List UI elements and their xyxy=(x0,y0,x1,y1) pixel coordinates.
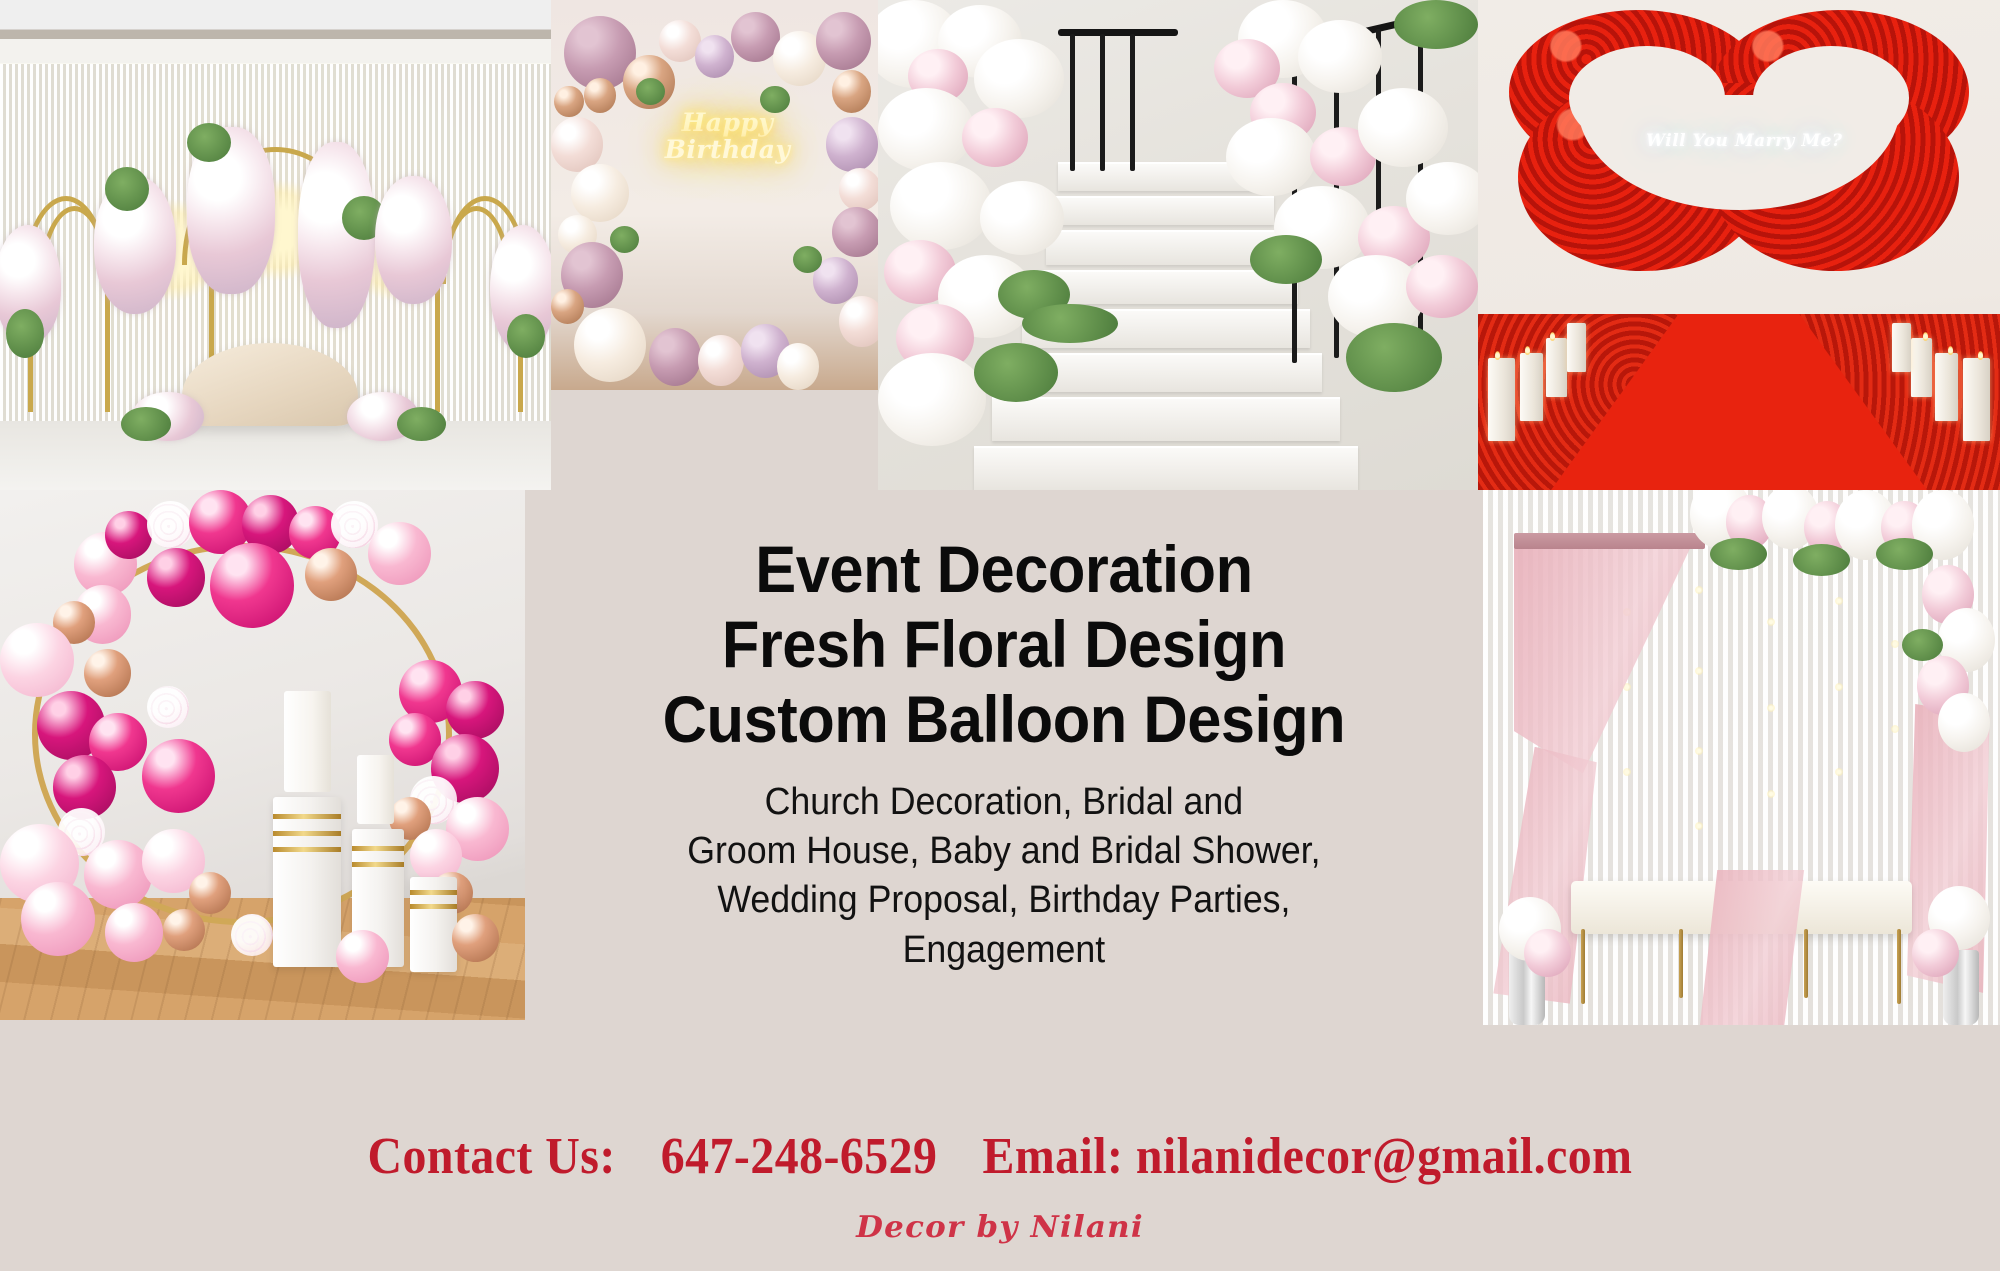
balloon xyxy=(649,328,701,387)
white-rose-cluster xyxy=(890,162,992,250)
services-line-4: Engagement xyxy=(687,926,1320,975)
headline-line-2: Fresh Floral Design xyxy=(663,607,1346,682)
flyer-canvas: Happy Birthday xyxy=(0,0,2000,1271)
railing-baluster xyxy=(1130,34,1135,171)
balloon xyxy=(210,543,294,628)
balloon xyxy=(142,739,216,813)
photo-birthday-balloon-arch: Happy Birthday xyxy=(551,0,878,390)
drape-valance-rod xyxy=(1514,533,1705,549)
photo-pink-balloon-cake-setup xyxy=(0,490,525,1020)
email-label: Email: xyxy=(982,1128,1123,1185)
bench-leg xyxy=(1897,929,1901,1004)
balloon xyxy=(839,168,878,211)
balloon xyxy=(571,164,630,223)
tiered-cake-small xyxy=(357,755,394,824)
balloon xyxy=(147,548,205,606)
candle-flame xyxy=(1923,332,1928,341)
fairy-light xyxy=(1695,822,1703,830)
white-rose-cluster xyxy=(1226,118,1316,196)
balloon xyxy=(336,930,389,983)
greenery xyxy=(610,226,639,253)
balloon xyxy=(189,872,231,914)
greenery xyxy=(1346,323,1442,392)
gold-stand-midr xyxy=(435,274,440,411)
white-rose-cluster xyxy=(878,353,986,446)
pink-rose-cluster xyxy=(1912,929,1959,977)
pillar-candle xyxy=(1892,323,1911,372)
bench-leg xyxy=(1581,929,1585,1004)
bench-leg xyxy=(1804,929,1808,999)
center-text-panel: Event Decoration Fresh Floral Design Cus… xyxy=(525,490,1483,1025)
balloon xyxy=(368,522,431,586)
bench-leg xyxy=(1679,929,1683,999)
balloon xyxy=(305,548,358,601)
tiered-cake-large xyxy=(284,691,331,792)
drape-scene xyxy=(1483,490,2000,1025)
headline-line-3: Custom Balloon Design xyxy=(663,682,1346,757)
gold-band xyxy=(410,890,457,895)
greenery xyxy=(1250,235,1322,284)
stair-step xyxy=(1052,196,1274,225)
services-line-2: Groom House, Baby and Bridal Shower, xyxy=(687,827,1320,876)
pink-rose-cluster xyxy=(962,108,1028,167)
pillar-candle xyxy=(1963,358,1989,441)
neon-line-1: Happy Birthday xyxy=(665,108,791,164)
greenery xyxy=(6,309,45,358)
stage-room xyxy=(0,0,551,490)
balloon xyxy=(231,914,273,956)
greenery xyxy=(1793,544,1850,576)
photo-staircase-florals xyxy=(878,0,1478,490)
floral-cluster xyxy=(375,176,452,303)
fairy-light xyxy=(1623,768,1631,776)
contact-line: Contact Us: 647-248-6529 Email: nilanide… xyxy=(80,1127,1920,1186)
photo-wedding-stage xyxy=(0,0,551,490)
greenery xyxy=(1876,538,1933,570)
gold-band xyxy=(273,831,341,836)
balloon xyxy=(839,296,878,347)
balloon xyxy=(551,289,584,324)
railing-rail xyxy=(1058,29,1178,36)
stage-floor xyxy=(0,421,551,490)
services-line-1: Church Decoration, Bridal and xyxy=(687,778,1320,827)
railing-baluster xyxy=(1100,34,1105,171)
neon-happy-birthday-sign: Happy Birthday xyxy=(649,109,806,163)
pillar-candle xyxy=(1520,353,1543,422)
fairy-light xyxy=(1695,667,1703,675)
brand-signature: Decor by Nilani xyxy=(0,1210,2000,1245)
railing-baluster xyxy=(1070,34,1075,171)
balloon xyxy=(446,681,504,739)
pillar-candle xyxy=(1488,358,1514,441)
cake-plinth-tall xyxy=(273,797,341,967)
neon-line-1: Will You Marry Me? xyxy=(1646,131,1843,151)
pillar-candle xyxy=(1911,338,1932,397)
balloon xyxy=(832,207,878,258)
fairy-light xyxy=(1767,790,1775,798)
balloon xyxy=(84,840,152,909)
balloon xyxy=(163,909,205,951)
pink-rose-cluster xyxy=(1406,255,1478,319)
greenery xyxy=(187,123,231,162)
gold-band xyxy=(273,847,341,852)
balloon xyxy=(777,343,820,390)
balloon xyxy=(452,914,499,962)
balloon xyxy=(0,623,74,697)
candle-flame xyxy=(1550,332,1555,341)
staircase-scene xyxy=(878,0,1478,490)
balloon xyxy=(698,335,744,386)
white-rose-cluster xyxy=(1358,88,1448,166)
white-rose-cluster xyxy=(1298,20,1382,94)
gold-band xyxy=(352,862,405,867)
balloon xyxy=(816,12,872,71)
photo-red-rose-heart-arch: Will You Marry Me? xyxy=(1478,0,2000,490)
pink-rose-cluster xyxy=(1524,929,1571,977)
candle-flame xyxy=(1495,351,1500,360)
services-block: Church Decoration, Bridal and Groom Hous… xyxy=(687,778,1320,976)
pillar-candle xyxy=(1567,323,1586,372)
proposal-room: Will You Marry Me? xyxy=(1478,0,2000,490)
candle-flame xyxy=(1948,346,1953,355)
email-address[interactable]: nilanidecor@gmail.com xyxy=(1136,1128,1633,1185)
greenery xyxy=(105,167,149,211)
pillar-candle xyxy=(1935,353,1958,422)
greenery xyxy=(760,86,789,113)
balloon xyxy=(832,70,871,113)
balloon-room: Happy Birthday xyxy=(551,0,878,390)
gold-band xyxy=(410,904,457,909)
neon-will-you-marry-me-sign: Will You Marry Me? xyxy=(1640,132,1849,150)
balloon xyxy=(695,35,734,78)
balloon xyxy=(105,511,152,559)
white-rose-cluster xyxy=(878,88,974,171)
white-rose-cluster xyxy=(1938,693,1990,752)
greenery xyxy=(121,407,171,441)
white-rose-cluster xyxy=(974,39,1064,117)
balloon xyxy=(554,86,583,117)
greenery xyxy=(397,407,447,441)
fairy-light xyxy=(1835,683,1843,691)
services-line-3: Wedding Proposal, Birthday Parties, xyxy=(687,876,1320,925)
balloon xyxy=(147,501,194,549)
white-rose-cluster xyxy=(980,181,1064,255)
stair-step xyxy=(992,397,1340,441)
headline-line-1: Event Decoration xyxy=(663,532,1346,607)
pillar-candle xyxy=(1546,338,1567,397)
greenery xyxy=(974,343,1058,402)
greenery xyxy=(1902,629,1943,661)
balloon xyxy=(105,903,163,961)
balloon xyxy=(21,882,95,956)
greenery xyxy=(1394,0,1478,49)
stair-step xyxy=(974,446,1358,490)
balloon xyxy=(826,117,878,172)
pink-balloon-room xyxy=(0,490,525,1020)
balloon xyxy=(84,649,131,697)
candle-flame xyxy=(1525,346,1530,355)
headline-block: Event Decoration Fresh Floral Design Cus… xyxy=(663,532,1346,758)
balloon xyxy=(574,308,646,382)
phone-number[interactable]: 647-248-6529 xyxy=(661,1128,938,1185)
balloon xyxy=(584,78,617,113)
fairy-light xyxy=(1835,597,1843,605)
gold-band xyxy=(352,846,405,851)
contact-label: Contact Us: xyxy=(368,1128,616,1185)
greenery xyxy=(507,314,546,358)
red-rose-heart xyxy=(1509,10,1968,314)
footer-bar: Contact Us: 647-248-6529 Email: nilanide… xyxy=(0,1025,2000,1271)
photo-blush-drape-backdrop xyxy=(1483,490,2000,1025)
fairy-light xyxy=(1835,768,1843,776)
greenery xyxy=(1022,304,1118,343)
gold-band xyxy=(273,814,341,819)
cake-plinth-short xyxy=(410,877,457,972)
fairy-light xyxy=(1695,747,1703,755)
